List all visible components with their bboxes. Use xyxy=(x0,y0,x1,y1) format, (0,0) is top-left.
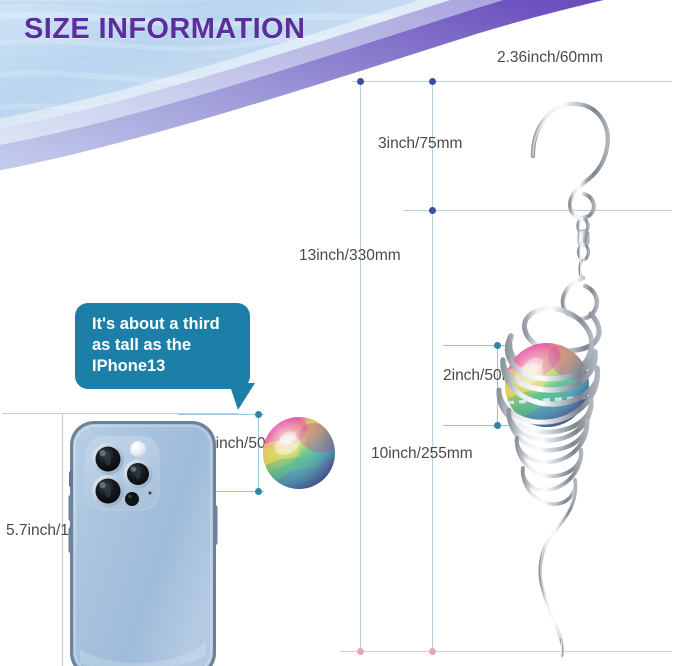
dimension-top-width: 2.36inch/60mm xyxy=(497,48,603,68)
spiral-coils-lower xyxy=(509,400,591,656)
dimension-hook-height: 3inch/75mm xyxy=(378,134,438,154)
left-ball-dim-line-top xyxy=(178,414,264,415)
callout-line-2: as tall as the xyxy=(92,335,237,356)
callout-bubble-text: It's about a third as tall as the IPhone… xyxy=(92,314,237,377)
phone-volume-down xyxy=(69,527,74,553)
dimension-total-height: 13inch/330mm xyxy=(299,246,363,266)
phone-mute-switch xyxy=(69,471,73,487)
rainbow-ball-left xyxy=(260,414,338,492)
dim-dot-spiral-bottom xyxy=(429,648,436,655)
phone-power-button xyxy=(213,505,218,545)
camera-lens-telephoto xyxy=(124,460,153,489)
dimension-line-total xyxy=(360,81,361,651)
dim-dot-hook-top xyxy=(429,78,436,85)
swivel-connector xyxy=(578,219,589,280)
iphone-13-illustration xyxy=(68,419,218,666)
callout-line-3: IPhone13 xyxy=(92,356,237,377)
dim-dot-total-bottom xyxy=(357,648,364,655)
callout-line-1: It's about a third xyxy=(92,314,237,335)
camera-lidar-sensor xyxy=(125,492,139,506)
dim-dot-total-top xyxy=(357,78,364,85)
phone-volume-up xyxy=(69,495,74,521)
callout-bubble: It's about a third as tall as the IPhone… xyxy=(75,303,250,389)
dimension-total-height-value: 13inch/330mm xyxy=(299,247,401,264)
spiral-wind-spinner xyxy=(455,78,670,658)
camera-lens-wide xyxy=(92,443,124,475)
dimension-hook-height-value: 3inch/75mm xyxy=(378,135,462,152)
camera-microphone xyxy=(149,492,152,495)
s-hook xyxy=(533,104,608,218)
camera-lens-ultrawide xyxy=(92,475,124,507)
camera-flash-icon xyxy=(130,441,146,457)
dimension-spiral-height: 10inch/255mm xyxy=(371,444,435,464)
page-title: SIZE INFORMATION xyxy=(24,13,305,46)
dimension-line-sections xyxy=(432,81,433,651)
size-information-infographic: SIZE INFORMATION 2.36inch/60mm 3inch/75m… xyxy=(0,0,679,666)
dim-dot-hook-bottom xyxy=(429,207,436,214)
